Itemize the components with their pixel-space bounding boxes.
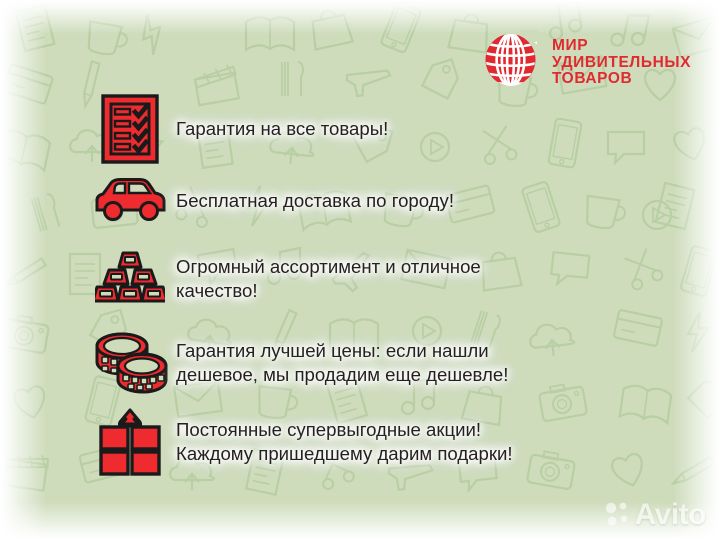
brand-line-1: МИР	[552, 38, 691, 54]
feature-text: Бесплатная доставка по городу!	[176, 189, 454, 213]
feature-row-assortment: Огромный ассортимент и отличное качество…	[84, 250, 481, 308]
promo-banner: МИР УДИВИТЕЛЬНЫХ ТОВАРОВ	[0, 0, 720, 540]
car-icon	[92, 176, 168, 226]
feature-text: Гарантия на все товары!	[176, 117, 388, 141]
feature-row-warranty: Гарантия на все товары!	[84, 92, 388, 166]
feature-icon-cell	[84, 330, 176, 396]
feature-text: Гарантия лучшей цены: если нашли дешевое…	[176, 339, 508, 387]
avito-dots-icon	[605, 501, 631, 529]
feature-row-best-price: Гарантия лучшей цены: если нашли дешевое…	[84, 330, 508, 396]
brand-logo[interactable]: МИР УДИВИТЕЛЬНЫХ ТОВАРОВ	[479, 26, 694, 100]
gift-box-icon	[96, 406, 164, 478]
gold-bars-icon	[95, 250, 165, 308]
brand-line-2: УДИВИТЕЛЬНЫХ	[552, 55, 691, 71]
feature-row-promotions: Постоянные супервыгодные акции! Каждому …	[84, 406, 513, 478]
feature-icon-cell	[84, 176, 176, 226]
feature-row-delivery: Бесплатная доставка по городу!	[84, 176, 454, 226]
checklist-icon	[99, 92, 161, 166]
coin-stacks-icon	[92, 330, 168, 396]
feature-icon-cell	[84, 92, 176, 166]
avito-watermark-text: Avito	[635, 498, 706, 532]
avito-watermark: Avito	[605, 498, 706, 532]
brand-line-3: ТОВАРОВ	[552, 71, 691, 87]
feature-icon-cell	[84, 406, 176, 478]
feature-icon-cell	[84, 250, 176, 308]
feature-text: Постоянные супервыгодные акции! Каждому …	[176, 418, 513, 466]
globe-grid-icon	[479, 28, 543, 98]
feature-text: Огромный ассортимент и отличное качество…	[176, 255, 481, 303]
brand-logo-text: МИР УДИВИТЕЛЬНЫХ ТОВАРОВ	[552, 38, 691, 87]
